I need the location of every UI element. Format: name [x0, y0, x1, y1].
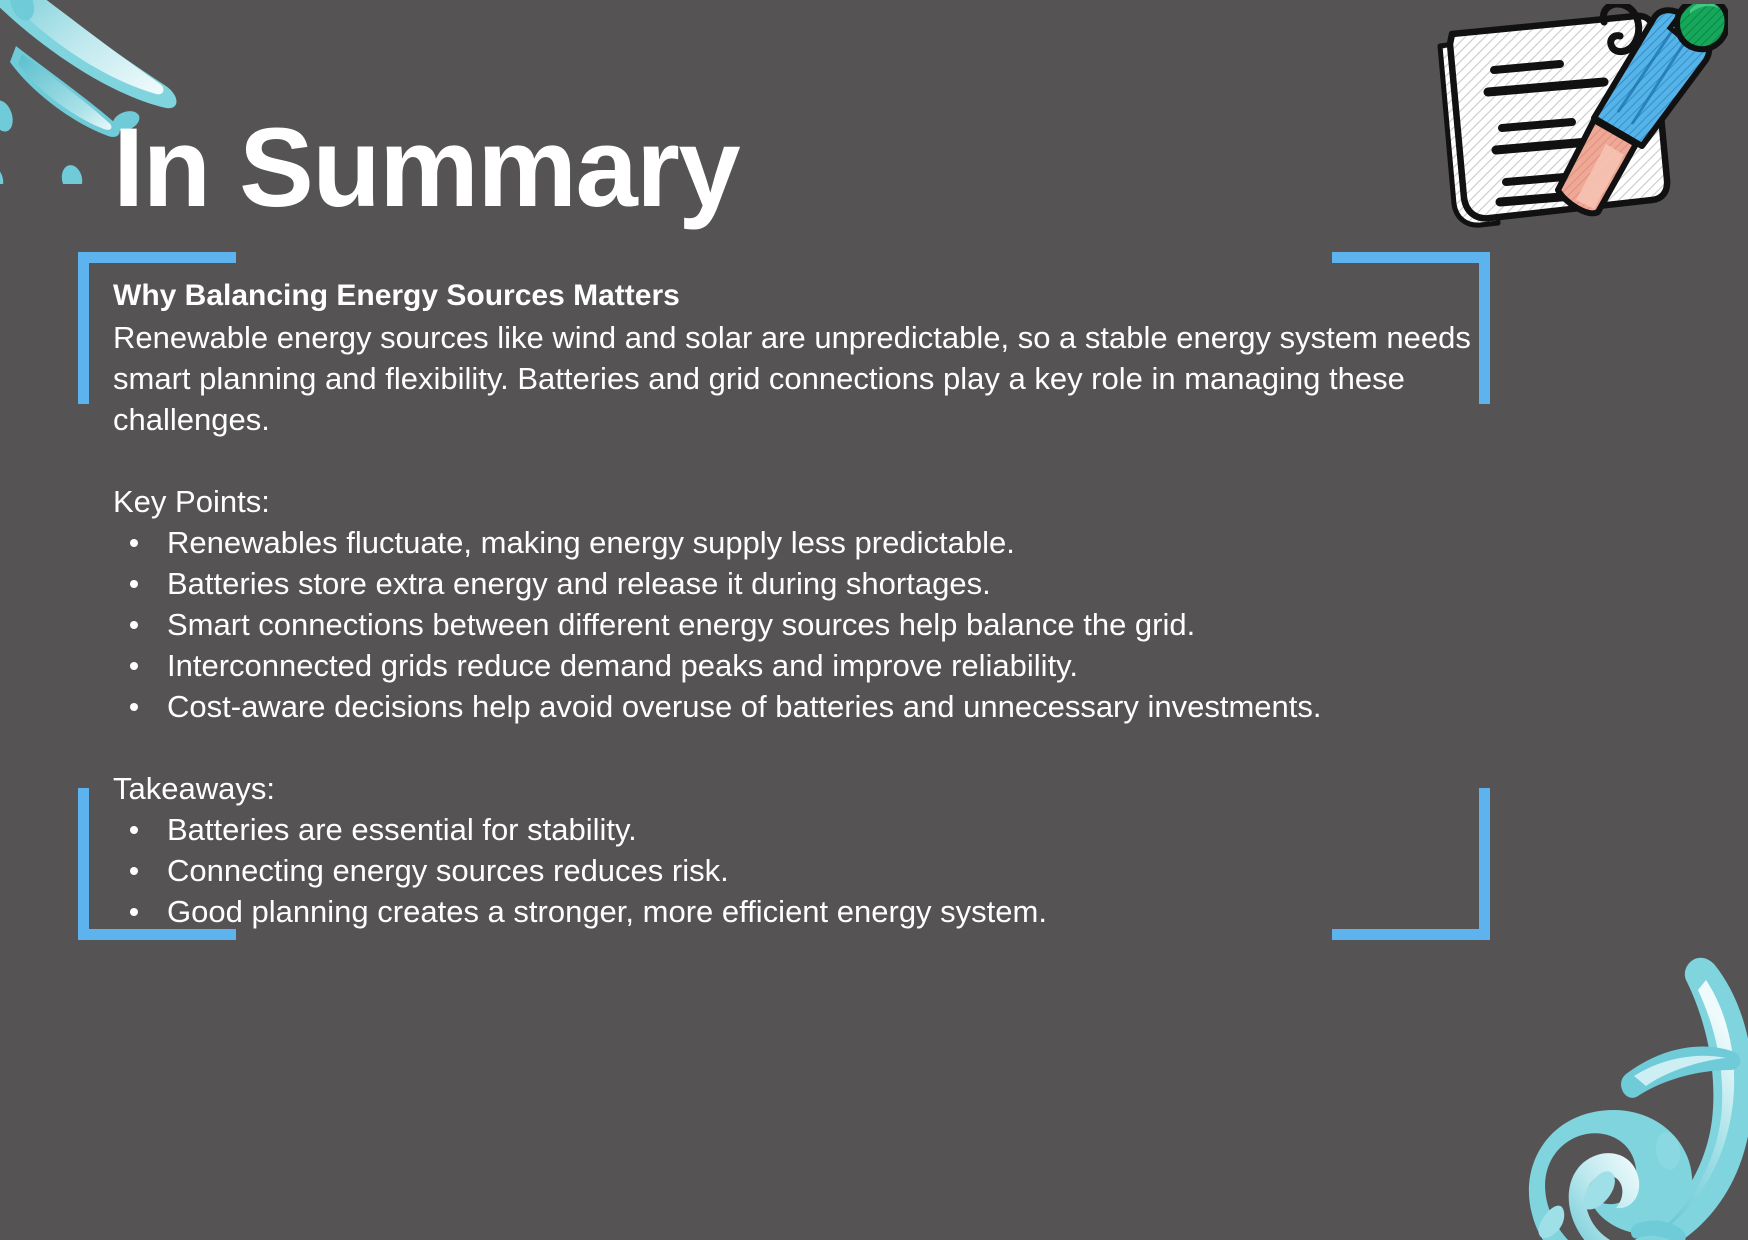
- bullet-dot-icon: [130, 539, 138, 547]
- list-item-label: Good planning creates a stronger, more e…: [167, 894, 1047, 929]
- bullet-dot-icon: [130, 867, 138, 875]
- paragraph-spacer-1: [113, 440, 1533, 481]
- clipboard-pencil-icon: [1428, 4, 1728, 249]
- list-item-label: Interconnected grids reduce demand peaks…: [167, 648, 1078, 683]
- slide-canvas: In Summary Why Balancing Energy Sources …: [0, 0, 1748, 1240]
- body-paragraph: Renewable energy sources like wind and s…: [113, 317, 1513, 440]
- section-label-takeaways: Takeaways:: [113, 768, 1533, 809]
- list-item: Cost-aware decisions help avoid overuse …: [113, 686, 1533, 727]
- key-points-list: Renewables fluctuate, making energy supp…: [113, 522, 1533, 727]
- list-item-label: Connecting energy sources reduces risk.: [167, 853, 729, 888]
- list-item-label: Batteries store extra energy and release…: [167, 566, 991, 601]
- paragraph-spacer-2: [113, 727, 1533, 768]
- section-label-key-points: Key Points:: [113, 481, 1533, 522]
- list-item-label: Renewables fluctuate, making energy supp…: [167, 525, 1015, 560]
- list-item: Good planning creates a stronger, more e…: [113, 891, 1533, 932]
- list-item-label: Batteries are essential for stability.: [167, 812, 637, 847]
- list-item: Interconnected grids reduce demand peaks…: [113, 645, 1533, 686]
- list-item: Connecting energy sources reduces risk.: [113, 850, 1533, 891]
- takeaways-list: Batteries are essential for stability. C…: [113, 809, 1533, 932]
- list-item: Batteries are essential for stability.: [113, 809, 1533, 850]
- list-item: Renewables fluctuate, making energy supp…: [113, 522, 1533, 563]
- bullet-dot-icon: [130, 662, 138, 670]
- list-item-label: Cost-aware decisions help avoid overuse …: [167, 689, 1322, 724]
- bullet-dot-icon: [130, 908, 138, 916]
- bullet-dot-icon: [130, 703, 138, 711]
- page-title: In Summary: [113, 112, 739, 224]
- bullet-dot-icon: [130, 621, 138, 629]
- bullet-dot-icon: [130, 580, 138, 588]
- summary-body: Why Balancing Energy Sources Matters Ren…: [113, 275, 1533, 932]
- bullet-dot-icon: [130, 826, 138, 834]
- list-item: Batteries store extra energy and release…: [113, 563, 1533, 604]
- body-heading: Why Balancing Energy Sources Matters: [113, 275, 1533, 317]
- list-item-label: Smart connections between different ener…: [167, 607, 1195, 642]
- list-item: Smart connections between different ener…: [113, 604, 1533, 645]
- water-wave-splash-icon: [1346, 924, 1748, 1240]
